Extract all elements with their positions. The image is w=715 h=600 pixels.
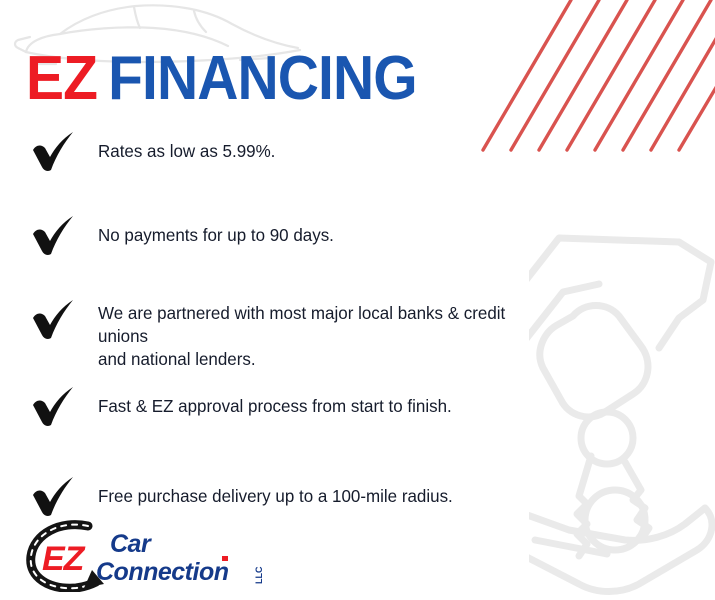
headline-accent-word: EZ: [26, 44, 97, 113]
logo-word-car: Car: [110, 530, 152, 558]
benefit-line-1: Fast & EZ approval process from start to…: [98, 396, 452, 416]
benefit-line-1: No payments for up to 90 days.: [98, 225, 334, 245]
benefit-item: No payments for up to 90 days.: [0, 210, 560, 272]
brand-logo[interactable]: EZ Car Connection LLC: [26, 518, 288, 592]
benefit-line-2: and national lenders.: [98, 348, 546, 371]
benefit-line-1: We are partnered with most major local b…: [98, 303, 505, 346]
benefit-text: No payments for up to 90 days.: [98, 224, 546, 247]
checkmark-icon: [30, 298, 76, 342]
checkmark-icon: [30, 475, 76, 519]
benefit-line-1: Rates as low as 5.99%.: [98, 141, 275, 161]
checkmark-icon: [30, 385, 76, 429]
benefit-text: Free purchase delivery up to a 100-mile …: [98, 485, 546, 508]
benefit-text: Fast & EZ approval process from start to…: [98, 395, 546, 418]
benefit-item: Fast & EZ approval process from start to…: [0, 381, 560, 443]
benefit-text: Rates as low as 5.99%.: [98, 140, 546, 163]
logo-red-accent-dot: [222, 556, 228, 561]
checkmark-icon: [30, 130, 76, 174]
ez-financing-flyer: EZFINANCING Rates as low as 5.99%. No pa…: [0, 0, 715, 600]
logo-ez-text: EZ: [42, 540, 86, 578]
benefits-list: Rates as low as 5.99%. No payments for u…: [0, 126, 560, 545]
logo-llc-suffix: LLC: [254, 566, 264, 584]
benefit-text: We are partnered with most major local b…: [98, 302, 546, 371]
logo-word-connection: Connection: [96, 558, 229, 586]
benefit-item: Rates as low as 5.99%.: [0, 126, 560, 188]
benefit-item: We are partnered with most major local b…: [0, 294, 560, 371]
headline-main-word: FINANCING: [108, 44, 417, 113]
page-title: EZFINANCING: [26, 48, 417, 110]
benefit-line-1: Free purchase delivery up to a 100-mile …: [98, 486, 453, 506]
checkmark-icon: [30, 214, 76, 258]
